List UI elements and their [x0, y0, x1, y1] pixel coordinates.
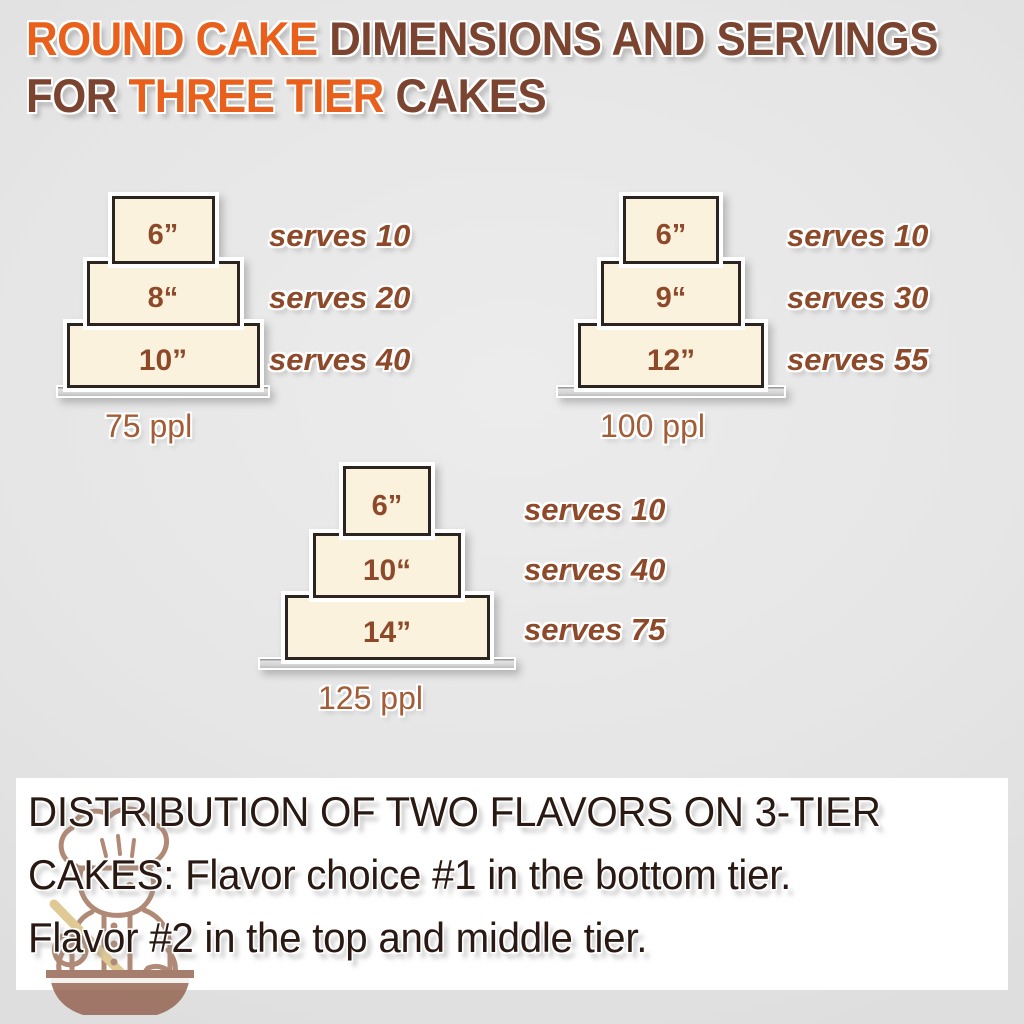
cake-tier-bottom: 12”: [578, 323, 764, 388]
tier-size-label: 6”: [656, 221, 687, 250]
panel-line-3: Flavor #2 in the top and middle tier.: [28, 906, 969, 969]
tier-size-label: 8“: [148, 284, 179, 313]
title-line-1: ROUND CAKE DIMENSIONS AND SERVINGS: [26, 10, 937, 67]
tier-size-label: 9“: [656, 284, 687, 313]
infographic-root: ROUND CAKE DIMENSIONS AND SERVINGS FOR T…: [0, 0, 1024, 1024]
serves-bottom: serves 75: [524, 612, 665, 648]
tier-size-label: 6”: [372, 492, 403, 521]
cake-tier-bottom: 10”: [67, 323, 260, 388]
serves-middle: serves 20: [269, 280, 410, 316]
tier-size-label: 10“: [363, 556, 411, 586]
cake-tier-top: 6”: [112, 196, 215, 264]
serves-bottom: serves 40: [269, 342, 410, 378]
title-rest-1: DIMENSIONS AND SERVINGS: [318, 12, 938, 65]
cake-capacity-label: 125 ppl: [318, 680, 423, 717]
title-line-2: FOR THREE TIER CAKES: [26, 67, 937, 124]
page-title: ROUND CAKE DIMENSIONS AND SERVINGS FOR T…: [26, 10, 1006, 124]
serves-top: serves 10: [269, 218, 410, 254]
tier-size-label: 14”: [363, 618, 411, 648]
tier-size-label: 10”: [139, 346, 187, 376]
serves-top: serves 10: [787, 218, 928, 254]
cake-tier-bottom: 14”: [285, 595, 490, 660]
serves-top: serves 10: [524, 492, 665, 528]
cake-tier-top: 6”: [623, 196, 719, 264]
title-highlight-three-tier: THREE TIER: [129, 69, 384, 122]
panel-line-1: DISTRIBUTION OF TWO FLAVORS ON 3-TIER: [28, 780, 969, 843]
cake-tier-middle: 9“: [601, 261, 741, 326]
serves-column-100ppl: serves 10 serves 30 serves 55: [787, 218, 997, 388]
cake-group-75ppl: 6” 8“ 10” 75 ppl serves 10 serves 20 ser…: [56, 196, 476, 398]
flavor-distribution-text: DISTRIBUTION OF TWO FLAVORS ON 3-TIER CA…: [28, 780, 1008, 969]
tier-size-label: 6”: [148, 221, 179, 250]
cake-group-100ppl: 6” 9“ 12” 100 ppl serves 10 serves 30 se…: [556, 196, 996, 398]
cake-group-125ppl: 6” 10“ 14” 125 ppl serves 10 serves 40 s…: [258, 466, 718, 670]
panel-line-2: CAKES: Flavor choice #1 in the bottom ti…: [28, 843, 969, 906]
title-for: FOR: [26, 69, 129, 122]
title-cakes: CAKES: [384, 69, 546, 122]
cake-stack-100ppl: 6” 9“ 12”: [556, 196, 786, 398]
serves-column-75ppl: serves 10 serves 20 serves 40: [269, 218, 479, 388]
cake-tier-top: 6”: [343, 466, 431, 536]
serves-middle: serves 30: [787, 280, 928, 316]
cake-capacity-label: 100 ppl: [600, 408, 705, 445]
title-highlight-round-cake: ROUND CAKE: [26, 12, 318, 65]
tier-size-label: 12”: [647, 346, 695, 376]
cake-tier-middle: 8“: [87, 261, 240, 326]
cake-capacity-label: 75 ppl: [105, 408, 192, 445]
cake-tier-middle: 10“: [313, 533, 461, 598]
serves-middle: serves 40: [524, 552, 665, 588]
serves-column-125ppl: serves 10 serves 40 serves 75: [524, 492, 734, 662]
cake-stack-75ppl: 6” 8“ 10”: [56, 196, 270, 398]
flavor-distribution-panel: DISTRIBUTION OF TWO FLAVORS ON 3-TIER CA…: [16, 778, 1008, 990]
cake-stack-125ppl: 6” 10“ 14”: [258, 466, 516, 670]
serves-bottom: serves 55: [787, 342, 928, 378]
